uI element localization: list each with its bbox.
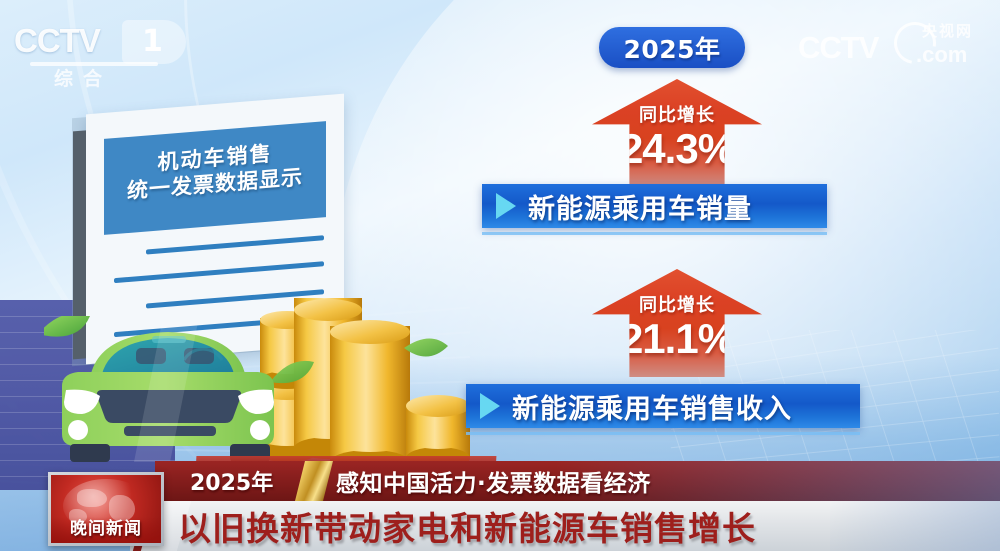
website-logo-brand: CCTV	[798, 30, 878, 66]
banner-year-label: 2025年	[190, 465, 273, 497]
growth-arrow-1-value: 24.3%	[592, 125, 762, 173]
electric-car-illustration	[44, 316, 294, 466]
year-pill-label: 2025年	[623, 30, 720, 66]
banner-year-tag: 2025年	[190, 466, 273, 496]
play-triangle-icon	[496, 193, 516, 219]
metric-bar-2-underline	[466, 432, 860, 435]
growth-arrow-2-label: 同比增长	[592, 291, 762, 317]
play-triangle-icon	[480, 393, 500, 419]
banner-subtitle: 感知中国活力·发票数据看经济	[336, 465, 651, 497]
program-name: 晚间新闻	[51, 514, 161, 539]
metric-bar-2-label: 新能源乘用车销售收入	[512, 387, 792, 426]
growth-arrow-2: 同比增长 21.1%	[592, 269, 762, 377]
banner-headline: 以旧换新带动家电和新能源车销售增长	[178, 503, 756, 549]
website-logo-chinese: 央视网	[922, 20, 973, 41]
metric-bar-1: 新能源乘用车销量	[482, 184, 827, 228]
channel-subtitle: 综合	[54, 64, 112, 91]
growth-arrow-1-label: 同比增长	[592, 101, 762, 127]
program-logo-inner: 晚间新闻	[51, 475, 161, 543]
program-logo: 晚间新闻	[48, 472, 164, 546]
metric-bar-1-label: 新能源乘用车销量	[528, 187, 752, 226]
metric-bar-2: 新能源乘用车销售收入	[466, 384, 860, 428]
website-logo: CCTV 央视网 .com	[798, 16, 988, 72]
growth-arrow-1: 同比增长 24.3%	[592, 79, 762, 187]
banner-subtitle-label: 感知中国活力·发票数据看经济	[336, 464, 651, 498]
globe-landmass	[77, 489, 107, 507]
growth-arrow-2-value: 21.1%	[592, 315, 762, 363]
banner-bottom-sheen	[830, 501, 1000, 551]
banner-headline-label: 以旧换新带动家电和新能源车销售增长	[178, 502, 756, 550]
growth-arrow-2-shape: 同比增长 21.1%	[592, 269, 762, 377]
year-pill: 2025年	[599, 27, 745, 68]
channel-number: 1	[142, 24, 163, 59]
metric-bar-1-underline	[482, 232, 827, 235]
document-rule	[146, 235, 324, 254]
document-header-box: 机动车销售 统一发票数据显示	[104, 121, 326, 235]
website-logo-domain: .com	[916, 42, 967, 68]
broadcast-graphic: CCTV 1 综合 CCTV 央视网 .com 机动车销售 统一发票数据显示	[0, 0, 1000, 551]
channel-logo: CCTV 1 综合	[14, 22, 214, 86]
growth-arrow-1-shape: 同比增长 24.3%	[592, 79, 762, 187]
document-rule	[114, 261, 324, 283]
